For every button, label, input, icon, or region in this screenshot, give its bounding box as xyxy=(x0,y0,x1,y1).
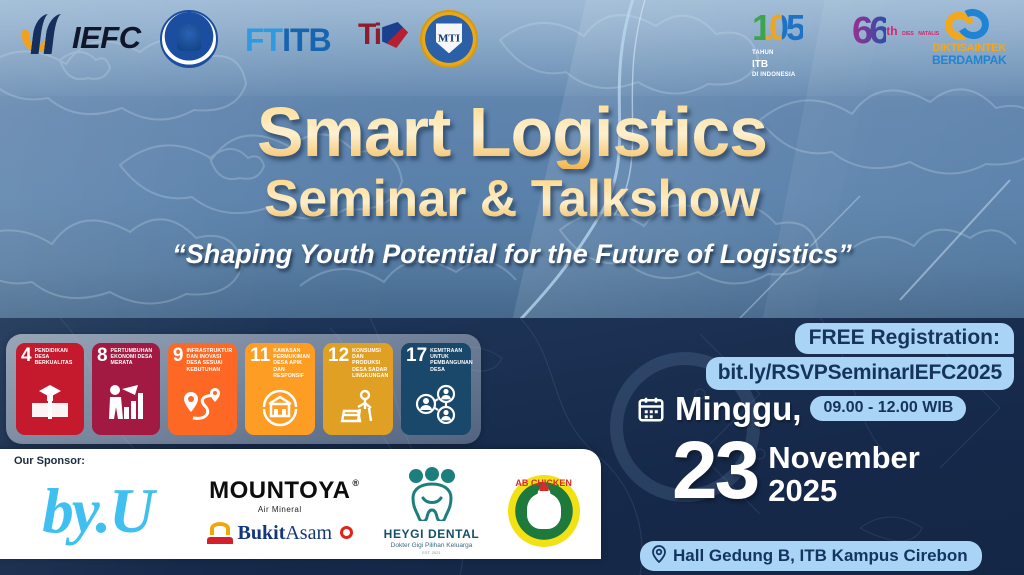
sdg-label: PENDIDIKAN DESA BERKUALITAS xyxy=(35,348,79,367)
mountoya-subtitle: Air Mineral xyxy=(197,506,363,514)
dies-66-glyph: 66 xyxy=(852,12,886,50)
sdg-label: INFRASTRUKTUR DAN INOVASI DESA SESUAI KE… xyxy=(186,348,232,373)
sdg-card: 9 INFRASTRUKTUR DAN INOVASI DESA SESUAI … xyxy=(168,343,237,435)
sponsor-caption: Our Sponsor: xyxy=(14,456,85,467)
logo-66th-dies-natalis: 66 th DIES NATALIS xyxy=(852,12,939,50)
event-poster: IEFC FTITB Ti MTI 105 xyxy=(0,0,1024,575)
ti-flag-icon xyxy=(382,22,408,48)
calendar-icon xyxy=(636,394,666,424)
sponsor-logo-mountoya-bukitasam: MOUNTOYA® Air Mineral BukitAsam xyxy=(197,479,363,544)
mti-shield-text: MTI xyxy=(436,23,462,53)
itb-105-di-indonesia: DI INDONESIA xyxy=(752,70,803,81)
location-pin-icon xyxy=(651,545,667,566)
logo-itb-105-years: 105 TAHUN ITB DI INDONESIA xyxy=(752,10,803,81)
event-location-pill: Hall Gedung B, ITB Kampus Cirebon xyxy=(640,541,982,571)
free-registration-label: FREE Registration: xyxy=(795,323,1014,354)
sponsor-panel: Our Sponsor: by.U MOUNTOYA® Air Mineral … xyxy=(0,449,601,559)
dies-66-sub1: DIES xyxy=(902,31,914,37)
ftitb-ft-text: FT xyxy=(245,24,282,56)
registration-link[interactable]: bit.ly/RSVPSeminarIEFC2025 xyxy=(706,357,1014,390)
village-icon xyxy=(250,379,310,435)
poster-tagline: “Shaping Youth Potential for the Future … xyxy=(0,240,1024,270)
ftitb-itb-text: ITB xyxy=(282,24,331,56)
title-block: Smart Logistics Seminar & Talkshow “Shap… xyxy=(0,96,1024,270)
sdg-card: 8 PERTUMBUHAN EKONOMI DESA MERATA xyxy=(92,343,160,435)
event-month: November xyxy=(768,442,920,474)
poster-title-line1: Smart Logistics xyxy=(0,96,1024,169)
itb-105-itb: ITB xyxy=(752,59,768,70)
mti-seal-icon: MTI xyxy=(420,10,478,68)
book-icon xyxy=(21,367,79,435)
sponsor-logo-byu: by.U xyxy=(8,480,187,543)
logo-ft-itb: FTITB xyxy=(245,24,331,56)
logo-itb-seal xyxy=(160,10,218,68)
itb-105-glyph: 105 xyxy=(752,10,803,46)
tooth-hands-icon xyxy=(396,508,468,525)
sdg-number: 8 xyxy=(97,348,108,364)
logo-mti: MTI xyxy=(420,10,478,68)
iefc-mark-icon xyxy=(22,14,66,60)
itb-seal-icon xyxy=(160,10,218,68)
sdg-label: PERTUMBUHAN EKONOMI DESA MERATA xyxy=(111,348,155,367)
event-year: 2025 xyxy=(768,474,920,507)
route-pin-icon xyxy=(173,373,232,435)
sdg-label: KONSUMSI DAN PRODUKSI DESA SADAR LINGKUN… xyxy=(352,348,388,379)
partnership-icon xyxy=(406,373,466,435)
sdg-card: 17 KEMITRAAN UNTUK PEMBANGUNAN DESA xyxy=(401,343,471,435)
event-date-row: 23 November 2025 xyxy=(672,436,920,507)
bukit-asam-dot-icon xyxy=(340,526,353,539)
sdg-label: KEMITRAAN UNTUK PEMBANGUNAN DESA xyxy=(430,348,473,373)
sdg-panel: 4 PENDIDIKAN DESA BERKUALITAS 8 PERTUMBU… xyxy=(6,334,481,444)
sdg-number: 11 xyxy=(250,348,270,364)
logo-diktisaintek: DIKTISAINTEK BERDAMPAK xyxy=(932,8,1016,67)
sponsor-logo-row: by.U MOUNTOYA® Air Mineral BukitAsam xyxy=(8,469,587,553)
mountoya-wordmark: MOUNTOYA® xyxy=(209,479,350,503)
ab-chicken-seal-icon: AB CHICKEN xyxy=(508,475,580,547)
sdg-number: 12 xyxy=(328,348,349,364)
sponsor-logo-ab-chicken: AB CHICKEN xyxy=(500,475,587,547)
heygi-subtitle: Dokter Gigi Pilihan Keluarga xyxy=(373,543,491,550)
sdg-card: 11 KAWASAN PERMUKIMAN DESA APIK DAN RESP… xyxy=(245,343,315,435)
mountoya-name: MOUNTOYA xyxy=(209,477,350,504)
event-date-number: 23 xyxy=(672,436,757,507)
diktisaintek-bird-icon xyxy=(943,8,995,42)
growth-chart-icon xyxy=(97,367,155,435)
event-time: 09.00 - 12.00 WIB xyxy=(810,396,966,421)
sponsor-logo-heygi-dental: HEYGI DENTAL Dokter Gigi Pilihan Keluarg… xyxy=(373,467,491,556)
asam-text: Asam xyxy=(285,522,332,544)
diktisaintek-line2: BERDAMPAK xyxy=(932,54,1006,67)
sdg-label: KAWASAN PERMUKIMAN DESA APIK DAN RESPONS… xyxy=(273,348,310,379)
iefc-wordmark: IEFC xyxy=(72,22,141,53)
poster-title-line2: Seminar & Talkshow xyxy=(0,171,1024,228)
recycle-work-icon xyxy=(328,379,388,435)
heygi-est: EST. 2021 xyxy=(373,551,491,555)
bukit-asam-logo: BukitAsam xyxy=(197,522,363,544)
event-location-text: Hall Gedung B, ITB Kampus Cirebon xyxy=(673,547,968,564)
bukit-asam-mark-icon xyxy=(207,522,233,544)
sdg-number: 9 xyxy=(173,348,184,364)
sdg-number: 4 xyxy=(21,348,32,364)
registration-block: FREE Registration: bit.ly/RSVPSeminarIEF… xyxy=(706,323,1014,390)
heygi-name: HEYGI DENTAL xyxy=(373,528,491,540)
bukit-asam-wordmark: BukitAsam xyxy=(238,523,332,543)
itb-105-tahun: TAHUN xyxy=(752,48,803,59)
bukit-text: Bukit xyxy=(238,522,286,544)
sdg-card: 4 PENDIDIKAN DESA BERKUALITAS xyxy=(16,343,84,435)
logo-ti: Ti xyxy=(358,20,408,50)
dies-66-th: th xyxy=(886,24,897,38)
partner-logo-bar: IEFC FTITB Ti MTI 105 xyxy=(0,0,1024,92)
event-day-row: Minggu, 09.00 - 12.00 WIB xyxy=(636,392,966,425)
event-day-name: Minggu, xyxy=(675,392,801,425)
hero-section: IEFC FTITB Ti MTI 105 xyxy=(0,0,1024,318)
mountoya-registered-mark: ® xyxy=(352,479,359,488)
sdg-card: 12 KONSUMSI DAN PRODUKSI DESA SADAR LING… xyxy=(323,343,393,435)
ti-wordmark: Ti xyxy=(358,20,380,50)
logo-iefc: IEFC xyxy=(22,14,141,60)
sdg-number: 17 xyxy=(406,348,427,364)
